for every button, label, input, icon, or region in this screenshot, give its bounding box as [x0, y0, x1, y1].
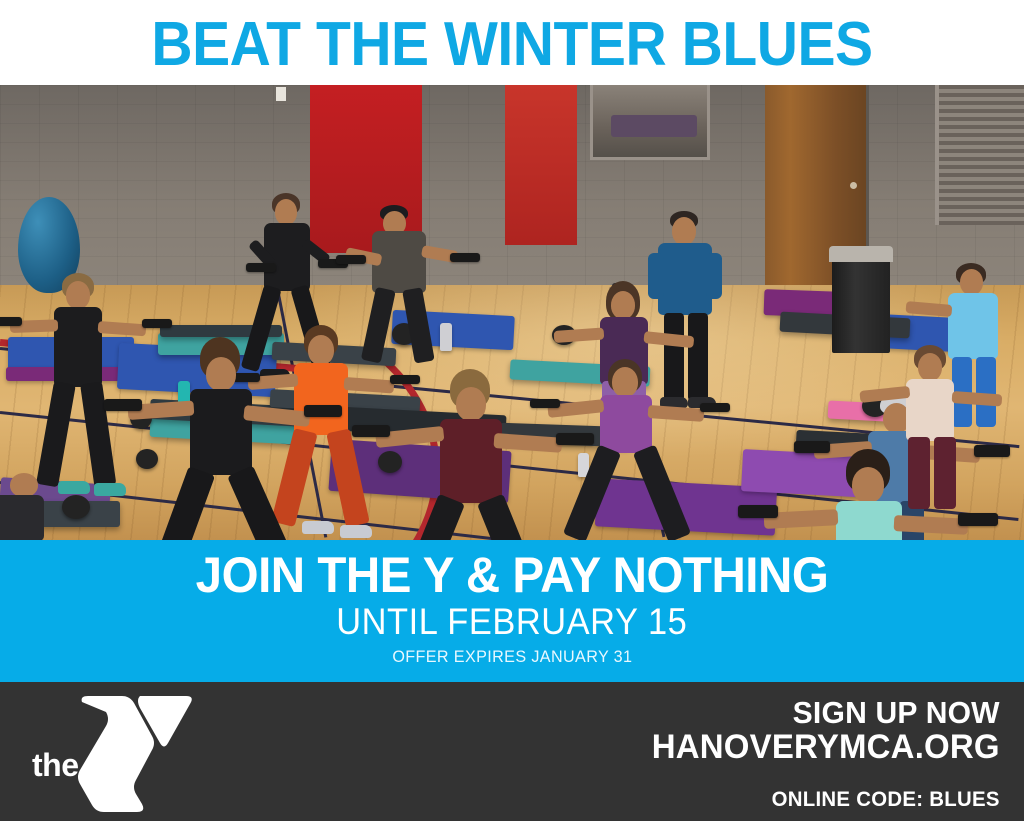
offer-banner: JOIN THE Y & PAY NOTHING UNTIL FEBRUARY … [0, 540, 1024, 682]
offer-fine-print: OFFER EXPIRES JANUARY 31 [392, 647, 632, 667]
dumbbell-weight [378, 451, 402, 473]
participant-head [206, 357, 236, 391]
wall-vent [935, 85, 1024, 225]
participant-head [308, 335, 334, 365]
dumbbell [700, 403, 730, 412]
trash-can [832, 255, 890, 353]
participant-head [275, 199, 297, 225]
instructor-head [672, 217, 696, 245]
instructor-leg [688, 313, 708, 401]
dumbbell [104, 399, 142, 411]
instructor-arm [648, 253, 664, 299]
participant-head [456, 387, 486, 421]
participant-torso [600, 395, 652, 453]
participant-leg [908, 437, 930, 509]
photo-scene [0, 85, 1024, 540]
dumbbell [556, 433, 594, 445]
participant-head [918, 353, 942, 381]
footer-bar: the ® YMCA SIGN UP NOW HANOVERYMCA.ORG O… [0, 682, 1024, 821]
door-knob-icon [850, 182, 857, 189]
trash-liner [829, 246, 893, 262]
dumbbell [304, 405, 342, 417]
participant-torso [0, 495, 44, 540]
offer-headline: JOIN THE Y & PAY NOTHING [196, 550, 829, 601]
instructor-arm [706, 253, 722, 299]
instructor-torso [658, 243, 712, 315]
participant-torso [906, 379, 954, 441]
dumbbell [794, 441, 830, 453]
dumbbell-weight [62, 495, 90, 519]
participant-torso [440, 419, 502, 503]
participant-torso [948, 293, 998, 359]
red-wall-panel-right [505, 85, 577, 245]
participant-head [612, 367, 638, 397]
participant-head [960, 269, 983, 295]
footer-contact-block: SIGN UP NOW HANOVERYMCA.ORG ONLINE CODE:… [641, 696, 1000, 812]
page-title: BEAT THE WINTER BLUES [151, 10, 872, 76]
promotional-flyer: BEAT THE WINTER BLUES [0, 0, 1024, 821]
participant-shoe [58, 481, 90, 494]
participant-shoe [94, 483, 126, 496]
dumbbell [390, 375, 420, 384]
promo-code: ONLINE CODE: BLUES [652, 788, 1000, 812]
ymca-logo[interactable]: the ® YMCA [28, 690, 218, 815]
window-mat [611, 115, 697, 137]
dumbbell [530, 399, 560, 408]
dumbbell [0, 317, 22, 326]
dumbbell [336, 255, 366, 264]
participant-shoe [340, 525, 372, 538]
participant-head [10, 473, 38, 497]
dumbbell [352, 425, 390, 437]
gym-class-photo [0, 85, 1024, 540]
registered-trademark-icon: ® [169, 696, 176, 707]
water-bottle [440, 323, 452, 351]
dumbbell [974, 445, 1010, 457]
logo-the-text: the [32, 747, 79, 784]
participant-shoe [302, 521, 334, 534]
wall-sign [276, 87, 286, 101]
dumbbell-weight [136, 449, 158, 469]
participant-torso [190, 389, 252, 475]
participant-leg [934, 437, 956, 509]
dumbbell [958, 513, 998, 526]
instructor-leg [664, 313, 684, 401]
dumbbell [246, 263, 276, 272]
gym-window [590, 85, 710, 160]
participant-torso [836, 501, 902, 540]
offer-subheadline: UNTIL FEBRUARY 15 [336, 603, 687, 642]
participant-head [852, 467, 884, 503]
headline-bar: BEAT THE WINTER BLUES [0, 0, 1024, 85]
participant-head [611, 291, 635, 319]
participant-head [66, 281, 90, 309]
dumbbell [738, 505, 778, 518]
dumbbell [450, 253, 480, 262]
sign-up-call-to-action: SIGN UP NOW [652, 696, 1000, 729]
participant-torso [54, 307, 102, 387]
dumbbell [142, 319, 172, 328]
website-url[interactable]: HANOVERYMCA.ORG [652, 729, 1000, 766]
